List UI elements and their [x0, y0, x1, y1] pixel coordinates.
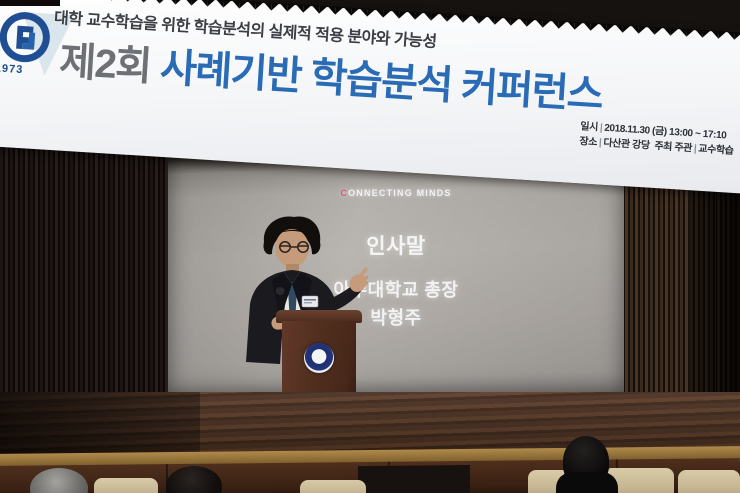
top-left-shadow: [0, 0, 60, 6]
banner-title-main: 사례기반 학습분석 커퍼런스: [159, 46, 604, 118]
banner-place-value: 다산관 강당: [603, 138, 650, 152]
audience-chair: [94, 478, 158, 493]
banner-host-label: 주최 주관: [654, 141, 692, 154]
banner-title-prefix: 제2회: [58, 39, 152, 89]
audience-shoulders: [556, 472, 618, 493]
connecting-minds-logo: CONNECTING MINDS: [168, 188, 624, 198]
stage-front-vent: [358, 465, 470, 493]
logo-year: 1973: [0, 62, 24, 76]
audience-chair: [678, 470, 740, 493]
logo-accent-letter: C: [340, 188, 348, 198]
banner-meta: 일시|2018.11.30 (금) 13:00 ~ 17:10 장소|다산관 강…: [579, 119, 735, 159]
wall-slats-left: [0, 118, 176, 410]
logo-rest-text: ONNECTING MINDS: [348, 188, 452, 198]
podium-emblem-icon: [304, 343, 334, 373]
banner-host-value: 교수학습: [698, 144, 734, 157]
banner-place-label: 장소: [579, 136, 597, 148]
banner-date-label: 일시: [580, 121, 598, 133]
logo-mark: [0, 6, 57, 70]
conference-photo: CONNECTING MINDS 인사말 아주대학교 총장 박형주: [0, 0, 740, 493]
stage-floor-shadow: [0, 392, 200, 460]
audience-chair: [300, 480, 366, 493]
